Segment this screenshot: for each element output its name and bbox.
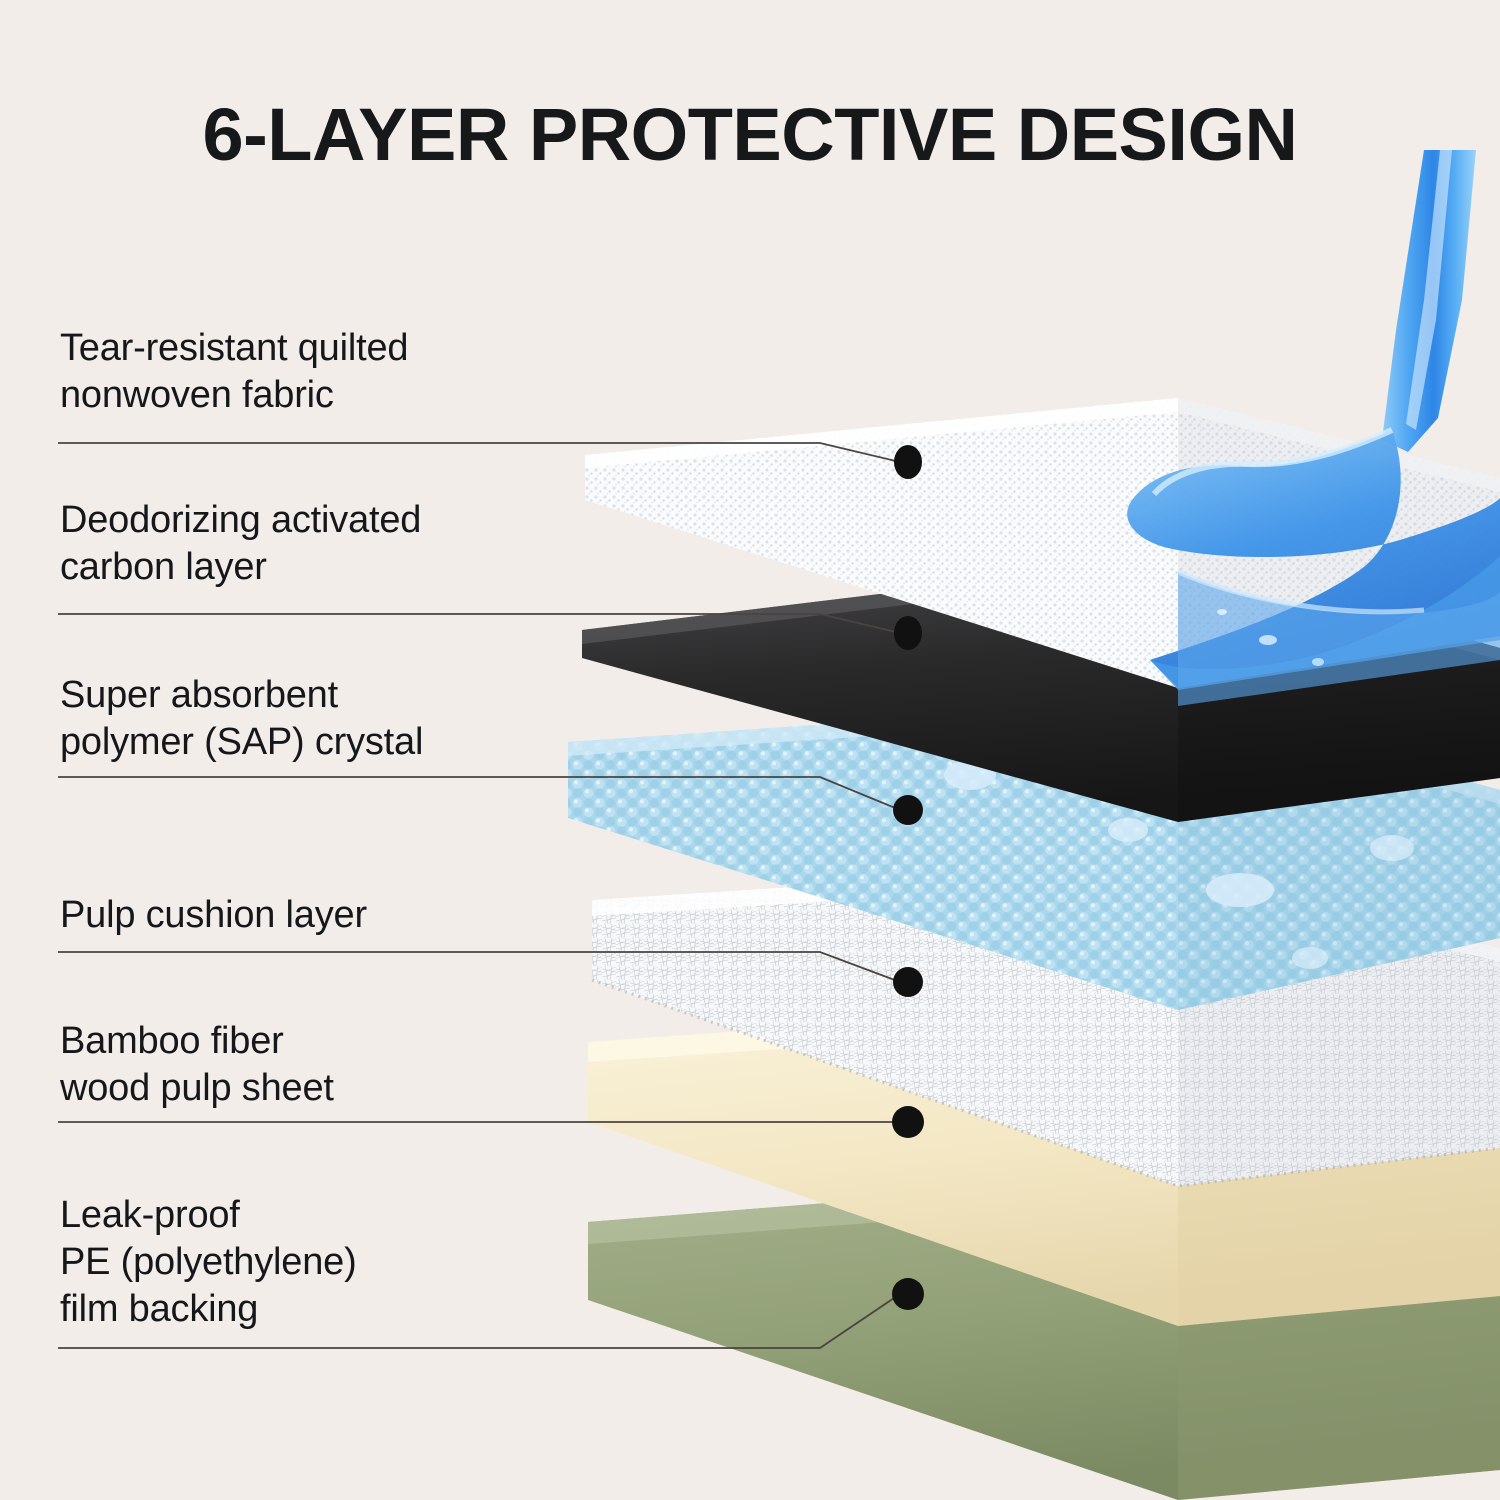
marker-dot-3 bbox=[893, 795, 923, 825]
marker-dot-1 bbox=[894, 445, 922, 479]
layer-label-2: Deodorizing activated carbon layer bbox=[60, 497, 421, 591]
infographic-canvas: 6-LAYER PROTECTIVE DESIGN bbox=[0, 0, 1500, 1500]
leader-line-1 bbox=[58, 443, 900, 462]
layer-label-1-text: Tear-resistant quilted nonwoven fabric bbox=[60, 325, 408, 419]
layer-label-2-text: Deodorizing activated carbon layer bbox=[60, 497, 421, 591]
marker-dot-2 bbox=[894, 616, 922, 650]
marker-dot-6 bbox=[892, 1278, 924, 1310]
layer-label-6: Leak-proof PE (polyethylene) film backin… bbox=[60, 1192, 357, 1333]
layer-label-3: Super absorbent polymer (SAP) crystal bbox=[60, 672, 423, 766]
leader-line-2 bbox=[58, 614, 900, 633]
layer-label-5: Bamboo fiber wood pulp sheet bbox=[60, 1018, 334, 1112]
marker-dot-5 bbox=[892, 1106, 924, 1138]
layer-label-6-text: Leak-proof PE (polyethylene) film backin… bbox=[60, 1192, 357, 1333]
leader-line-4 bbox=[58, 952, 900, 982]
layer-label-3-text: Super absorbent polymer (SAP) crystal bbox=[60, 672, 423, 766]
marker-dot-4 bbox=[893, 967, 923, 997]
layer-label-4-text: Pulp cushion layer bbox=[60, 892, 367, 939]
layer-label-5-text: Bamboo fiber wood pulp sheet bbox=[60, 1018, 334, 1112]
layer-label-4: Pulp cushion layer bbox=[60, 892, 367, 939]
layer-label-1: Tear-resistant quilted nonwoven fabric bbox=[60, 325, 408, 419]
leader-line-3 bbox=[58, 777, 900, 810]
